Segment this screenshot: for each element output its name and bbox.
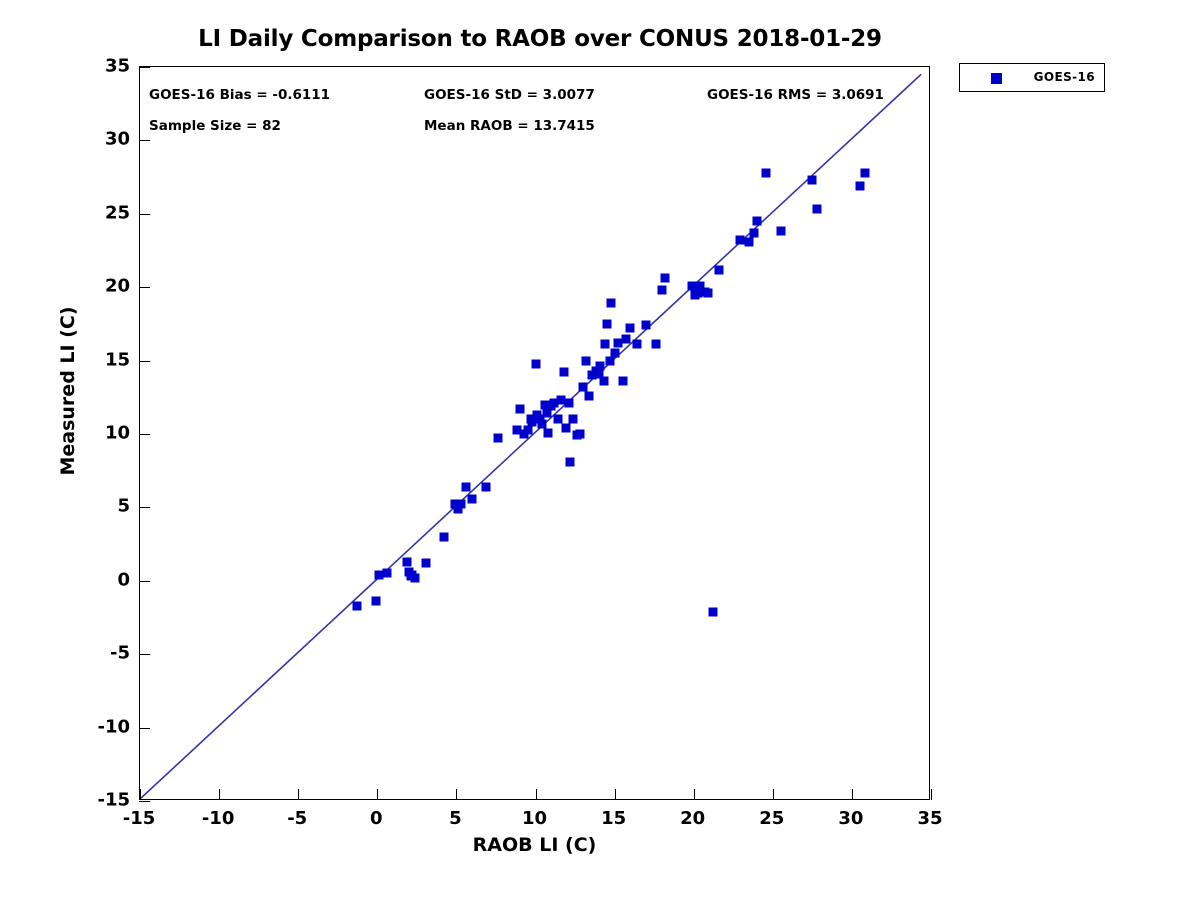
scatter-point bbox=[661, 274, 670, 283]
scatter-point bbox=[566, 457, 575, 466]
y-axis-tick bbox=[139, 507, 150, 508]
scatter-point bbox=[578, 383, 587, 392]
scatter-point bbox=[352, 601, 361, 610]
scatter-point bbox=[461, 482, 470, 491]
y-axis-title: Measured LI (C) bbox=[57, 301, 79, 481]
y-axis-tick-label: 15 bbox=[105, 349, 130, 370]
scatter-point bbox=[371, 597, 380, 606]
scatter-point bbox=[553, 415, 562, 424]
scatter-point bbox=[559, 368, 568, 377]
x-axis-title: RAOB LI (C) bbox=[139, 834, 930, 856]
scatter-point bbox=[569, 415, 578, 424]
y-axis-tick-label: 35 bbox=[105, 56, 130, 77]
x-axis-tick bbox=[536, 789, 537, 800]
plot-area bbox=[139, 66, 930, 800]
scatter-point bbox=[610, 349, 619, 358]
legend-marker-icon bbox=[991, 73, 1002, 84]
scatter-point bbox=[582, 356, 591, 365]
x-axis-tick bbox=[219, 789, 220, 800]
chart-page: LI Daily Comparison to RAOB over CONUS 2… bbox=[0, 0, 1200, 900]
y-axis-tick bbox=[139, 214, 150, 215]
scatter-point bbox=[813, 205, 822, 214]
x-axis-tick bbox=[773, 789, 774, 800]
scatter-point bbox=[658, 286, 667, 295]
scatter-point bbox=[618, 377, 627, 386]
scatter-point bbox=[855, 181, 864, 190]
scatter-point bbox=[575, 430, 584, 439]
scatter-point bbox=[468, 494, 477, 503]
scatter-point bbox=[531, 359, 540, 368]
y-axis-tick-label: 10 bbox=[105, 423, 130, 444]
x-axis-tick bbox=[852, 789, 853, 800]
scatter-point bbox=[403, 557, 412, 566]
scatter-point bbox=[457, 500, 466, 509]
x-axis-tick bbox=[377, 789, 378, 800]
scatter-point bbox=[482, 482, 491, 491]
scatter-point bbox=[411, 573, 420, 582]
y-axis-tick-label: 0 bbox=[117, 569, 130, 590]
scatter-point bbox=[382, 569, 391, 578]
y-axis-tick bbox=[139, 67, 150, 68]
scatter-point bbox=[544, 428, 553, 437]
scatter-point bbox=[703, 289, 712, 298]
x-axis-tick-labels: -15-10-505101520253035 bbox=[139, 808, 930, 834]
scatter-point bbox=[602, 319, 611, 328]
y-axis-tick bbox=[139, 434, 150, 435]
x-axis-tick bbox=[931, 789, 932, 800]
x-axis-tick bbox=[298, 789, 299, 800]
y-axis-tick-label: 5 bbox=[117, 496, 130, 517]
x-axis-tick-label: 20 bbox=[680, 808, 705, 829]
scatter-point bbox=[493, 434, 502, 443]
scatter-point bbox=[515, 405, 524, 414]
y-axis-tick bbox=[139, 728, 150, 729]
scatter-point bbox=[651, 340, 660, 349]
scatter-point bbox=[808, 176, 817, 185]
x-axis-tick-label: 15 bbox=[601, 808, 626, 829]
legend-label: GOES-16 bbox=[1034, 70, 1095, 84]
y-axis-tick bbox=[139, 581, 150, 582]
scatter-point bbox=[607, 299, 616, 308]
y-axis-tick bbox=[139, 140, 150, 141]
scatter-point bbox=[735, 236, 744, 245]
y-axis-tick bbox=[139, 654, 150, 655]
x-axis-tick-label: -5 bbox=[287, 808, 307, 829]
scatter-point bbox=[860, 168, 869, 177]
x-axis-tick-label: 5 bbox=[449, 808, 462, 829]
x-axis-tick-label: 30 bbox=[838, 808, 863, 829]
x-axis-tick-label: 25 bbox=[759, 808, 784, 829]
x-axis-tick-label: -15 bbox=[123, 808, 156, 829]
y-axis-tick-label: 20 bbox=[105, 276, 130, 297]
y-axis-tick bbox=[139, 801, 150, 802]
scatter-point bbox=[599, 377, 608, 386]
x-axis-tick-label: 0 bbox=[370, 808, 383, 829]
scatter-point bbox=[537, 419, 546, 428]
x-axis-tick bbox=[140, 789, 141, 800]
scatter-point bbox=[776, 227, 785, 236]
scatter-point bbox=[632, 340, 641, 349]
y-axis-tick bbox=[139, 361, 150, 362]
x-axis-tick-label: 10 bbox=[522, 808, 547, 829]
scatter-point bbox=[626, 324, 635, 333]
scatter-point bbox=[762, 168, 771, 177]
plot-inner bbox=[140, 67, 929, 799]
scatter-point bbox=[439, 532, 448, 541]
scatter-point bbox=[601, 340, 610, 349]
scatter-point bbox=[642, 321, 651, 330]
scatter-point bbox=[596, 362, 605, 371]
scatter-point bbox=[745, 237, 754, 246]
scatter-point bbox=[708, 607, 717, 616]
y-axis-tick-label: 30 bbox=[105, 129, 130, 150]
x-axis-tick bbox=[694, 789, 695, 800]
scatter-point bbox=[564, 399, 573, 408]
scatter-point bbox=[422, 559, 431, 568]
x-axis-tick bbox=[456, 789, 457, 800]
scatter-point bbox=[561, 424, 570, 433]
y-axis-tick bbox=[139, 287, 150, 288]
page-title: LI Daily Comparison to RAOB over CONUS 2… bbox=[0, 26, 1080, 52]
scatter-point bbox=[621, 334, 630, 343]
scatter-point bbox=[749, 228, 758, 237]
y-axis-tick-label: -10 bbox=[97, 716, 130, 737]
y-axis-tick-label: -5 bbox=[110, 643, 130, 664]
y-axis-tick-label: 25 bbox=[105, 202, 130, 223]
scatter-point bbox=[585, 391, 594, 400]
legend: GOES-16 bbox=[959, 63, 1105, 92]
x-axis-tick-label: -10 bbox=[202, 808, 235, 829]
scatter-point bbox=[752, 217, 761, 226]
scatter-point bbox=[715, 265, 724, 274]
x-axis-tick-label: 35 bbox=[917, 808, 942, 829]
x-axis-tick bbox=[615, 789, 616, 800]
